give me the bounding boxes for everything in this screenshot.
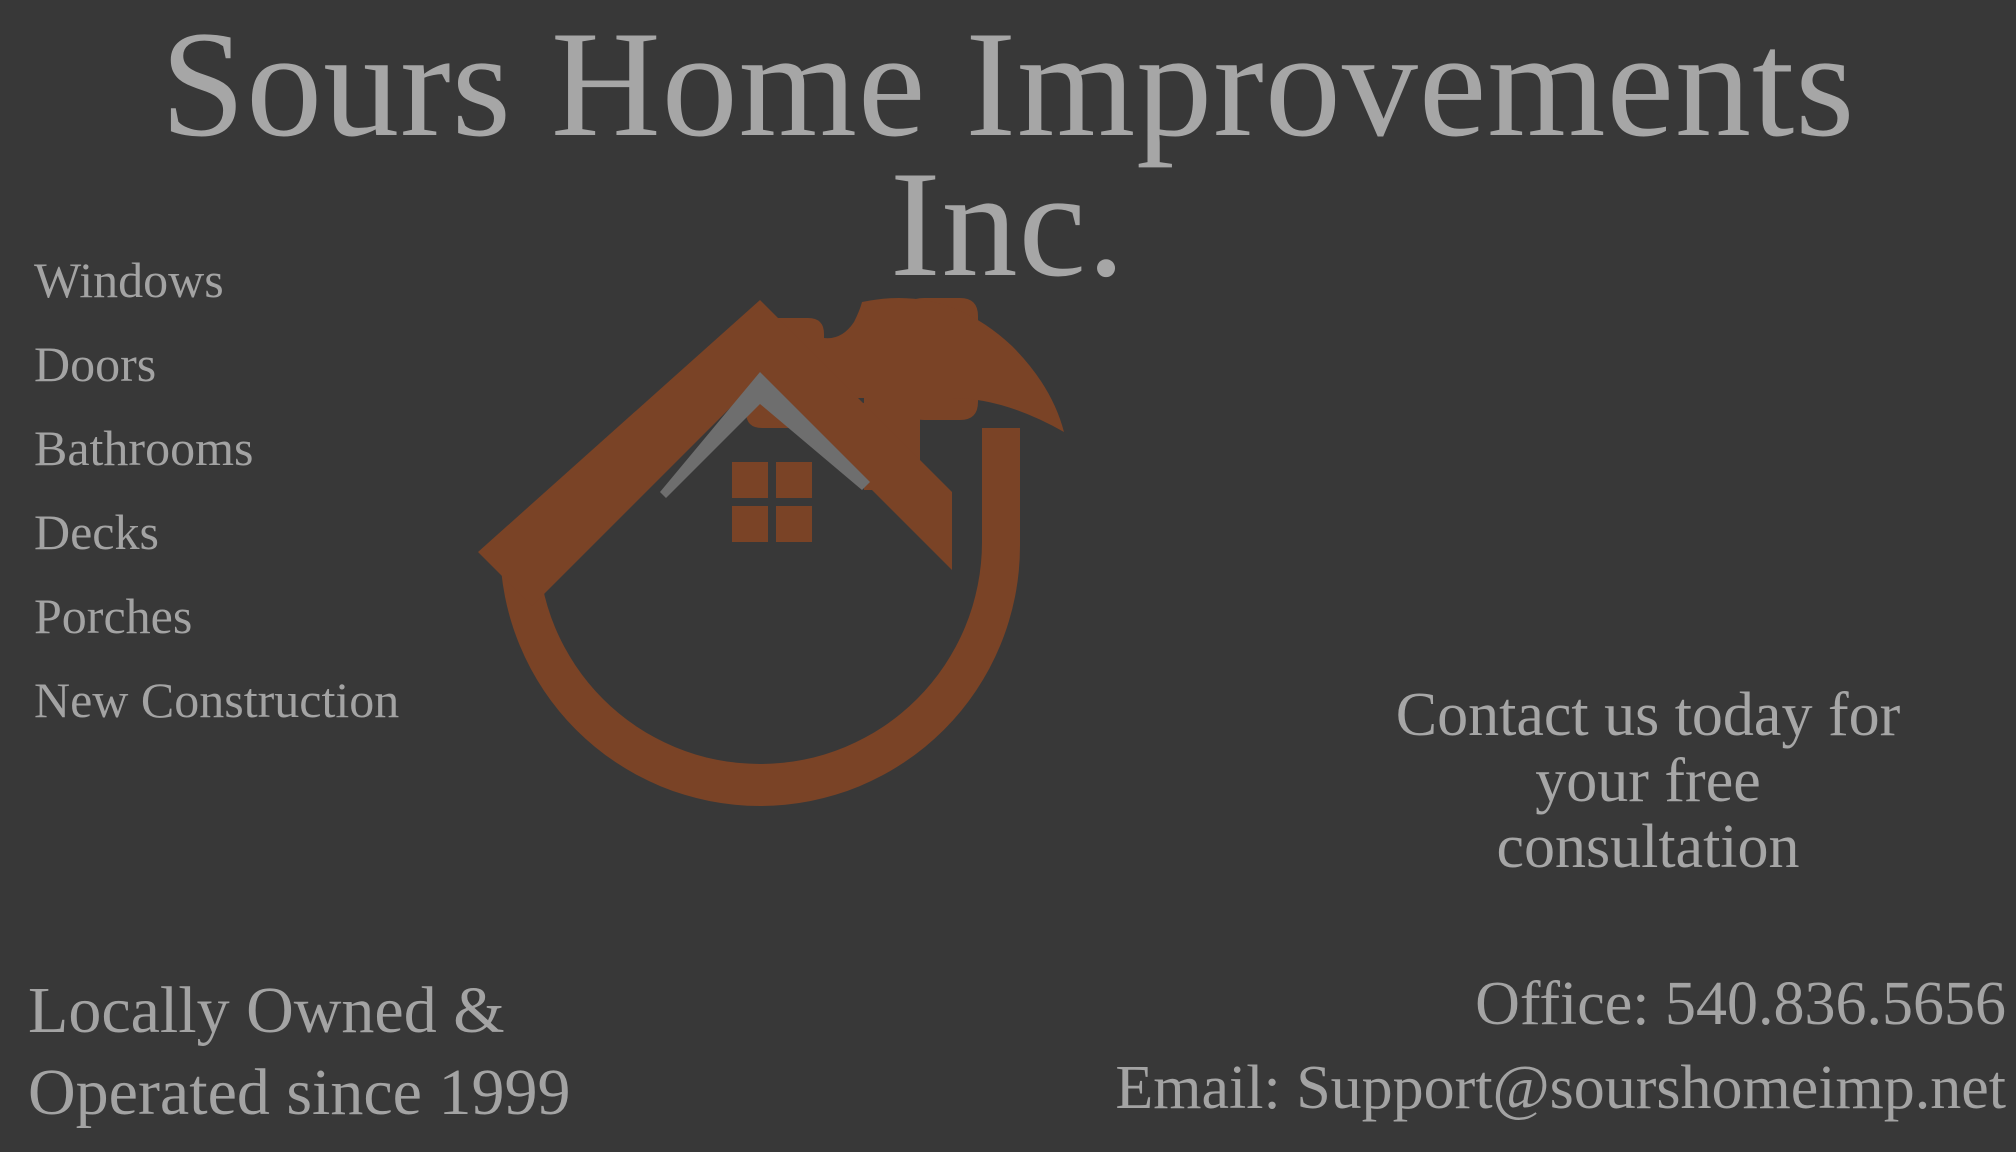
- window-four-pane-icon: [732, 462, 812, 542]
- support-email[interactable]: Email: Support@sourshomeimp.net: [906, 1046, 2006, 1130]
- house-and-hammer-logo: [470, 280, 1150, 800]
- locally-owned-text: Locally Owned & Operated since 1999: [28, 970, 888, 1134]
- contact-details: Office: 540.836.5656 Email: Support@sour…: [906, 962, 2006, 1130]
- hammer-neck-icon: [982, 428, 1020, 468]
- business-card: Sours Home Improvements Inc. Windows Doo…: [0, 0, 2016, 1152]
- office-phone[interactable]: Office: 540.836.5656: [906, 962, 2006, 1046]
- tagline-text: Contact us today for your free consultat…: [1298, 682, 1998, 880]
